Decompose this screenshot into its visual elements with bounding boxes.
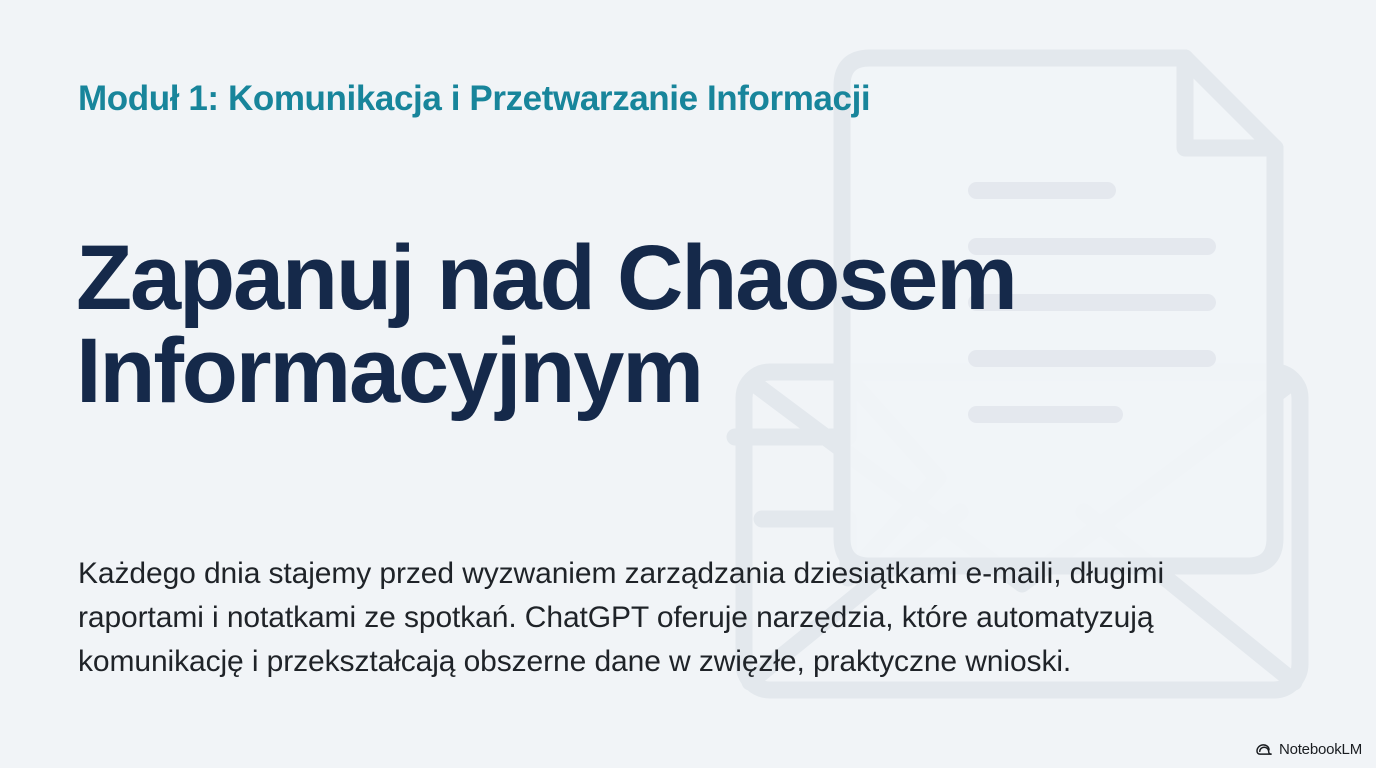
- slide-eyebrow-module-label: Moduł 1: Komunikacja i Przetwarzanie Inf…: [78, 78, 870, 120]
- notebooklm-watermark-label: NotebookLM: [1279, 742, 1362, 757]
- slide-headline: Zapanuj nad Chaosem Informacyjnym: [76, 232, 1256, 420]
- notebooklm-spiral-icon: [1256, 741, 1273, 758]
- slide-body-paragraph: Każdego dnia stajemy przed wyzwaniem zar…: [78, 552, 1288, 684]
- headline-line-1: Zapanuj nad Chaosem: [76, 232, 1256, 326]
- slide-content: Moduł 1: Komunikacja i Przetwarzanie Inf…: [0, 0, 1376, 768]
- headline-line-2: Informacyjnym: [76, 325, 1256, 419]
- slide-canvas: Moduł 1: Komunikacja i Przetwarzanie Inf…: [0, 0, 1376, 768]
- notebooklm-watermark: NotebookLM: [1256, 741, 1362, 758]
